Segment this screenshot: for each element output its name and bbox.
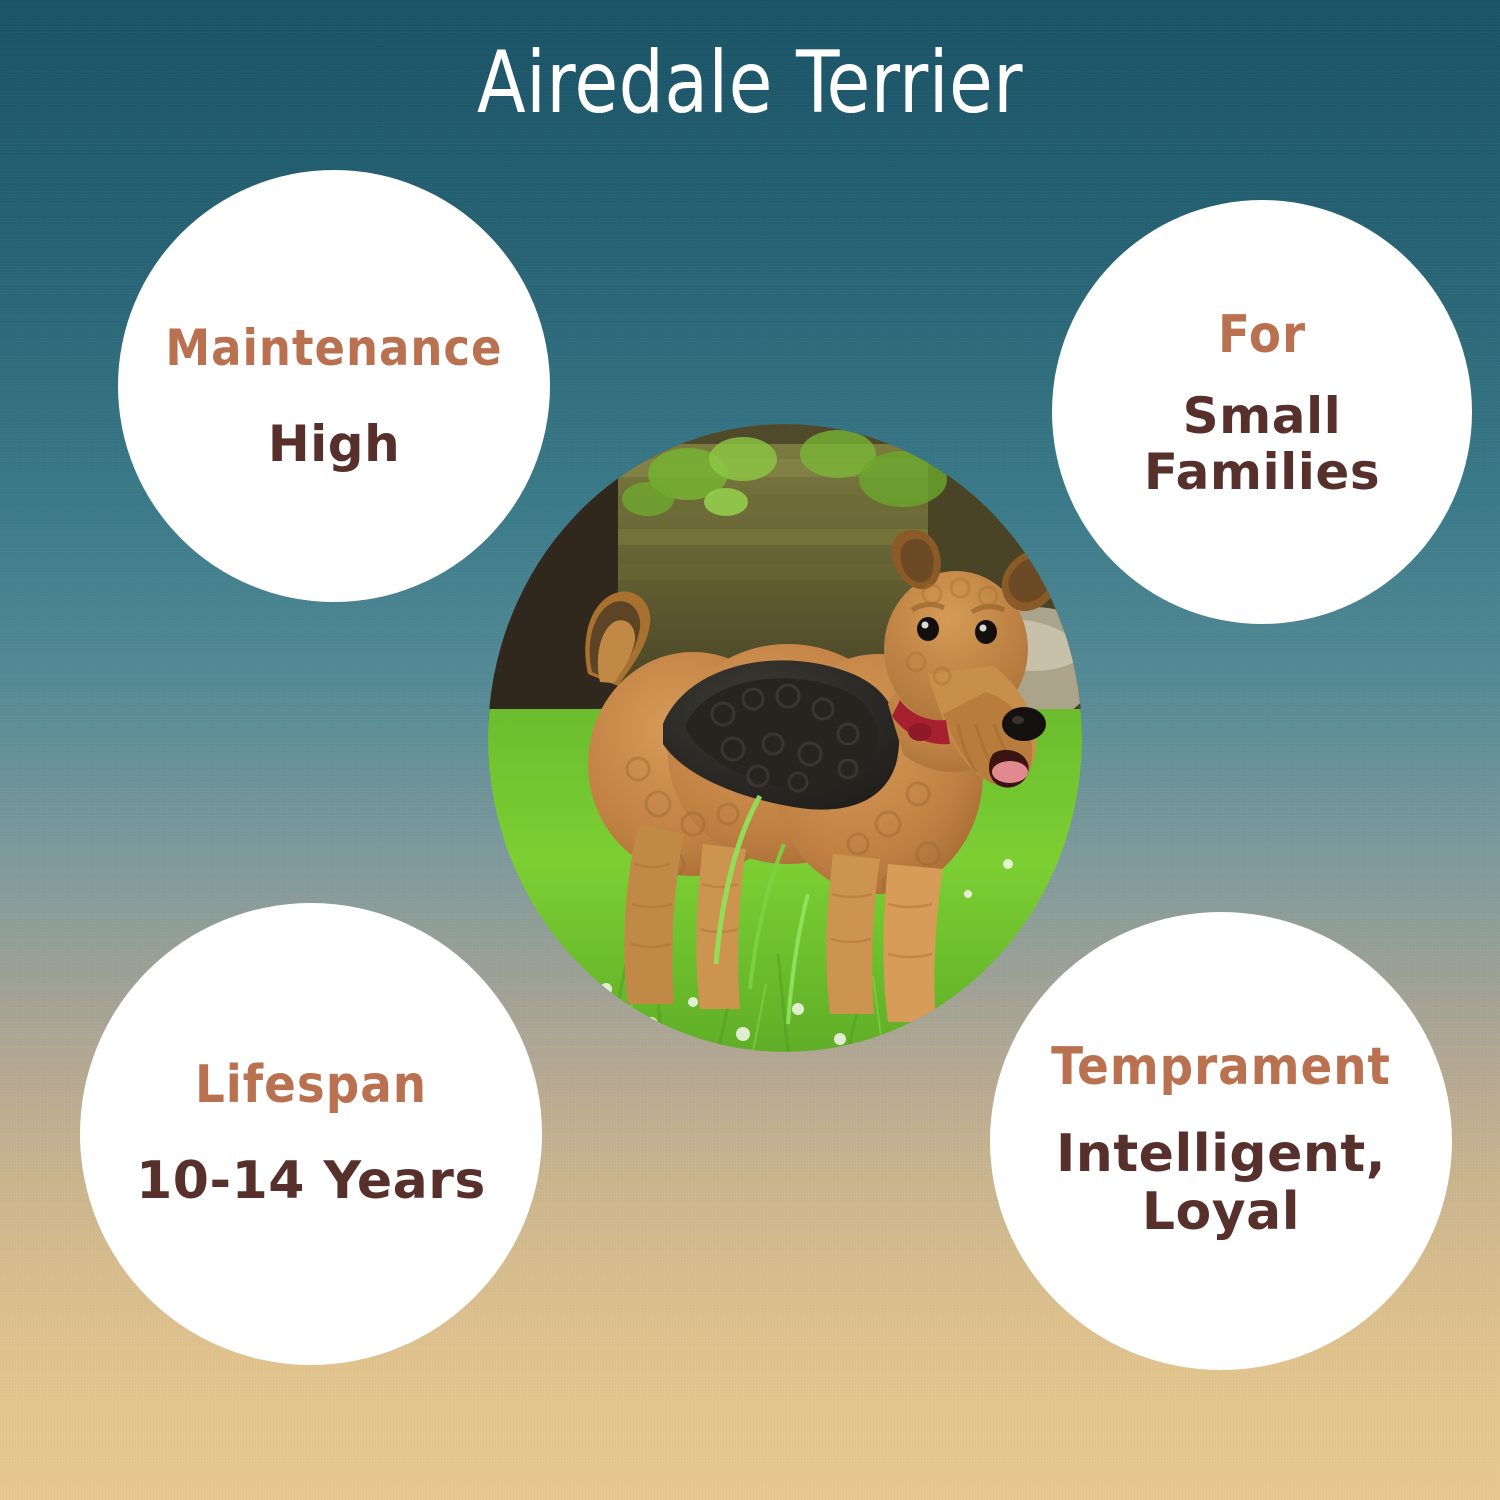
fact-bubble-lifespan: Lifespan 10-14 Years <box>80 903 542 1365</box>
fact-value-families: Small Families <box>1097 388 1427 500</box>
fact-heading-maintenance: Maintenance <box>165 322 502 375</box>
fact-value-lifespan: 10-14 Years <box>136 1152 486 1210</box>
fact-heading-temprament: Temprament <box>1051 1040 1391 1095</box>
dog-photo <box>488 424 1082 1052</box>
fact-bubble-families: For Small Families <box>1052 200 1472 624</box>
dog-photo-image <box>488 424 1082 1052</box>
fact-heading-lifespan: Lifespan <box>195 1058 427 1113</box>
fact-value-temprament: Intelligent, Loyal <box>1036 1125 1406 1241</box>
page-title: Airedale Terrier <box>60 38 1440 128</box>
infographic-canvas: Airedale Terrier <box>0 0 1500 1500</box>
fact-bubble-temprament: Temprament Intelligent, Loyal <box>990 912 1452 1370</box>
fact-value-maintenance: High <box>268 416 400 472</box>
fact-heading-families: For <box>1218 308 1306 363</box>
fact-bubble-maintenance: Maintenance High <box>118 170 550 602</box>
